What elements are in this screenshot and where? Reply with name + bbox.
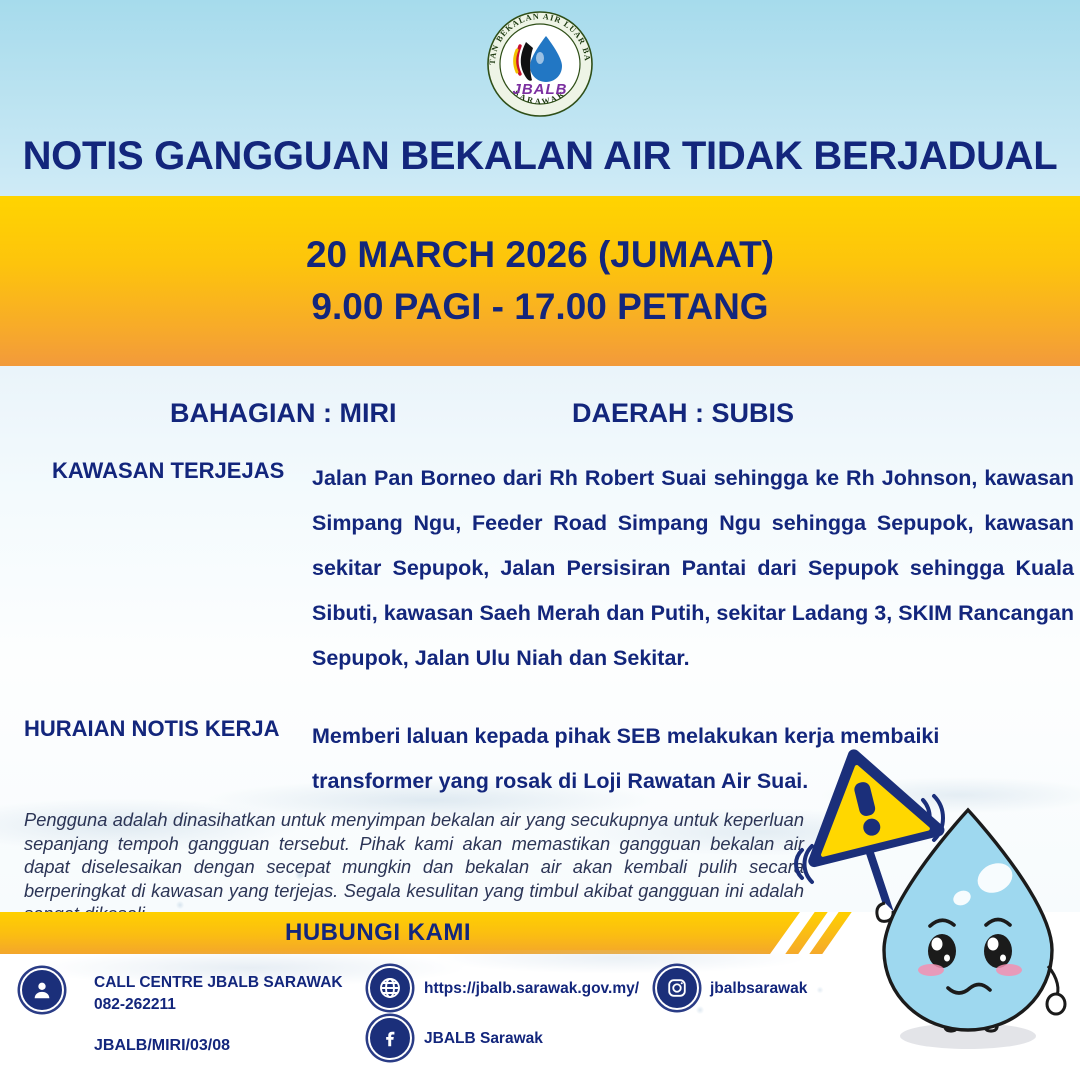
contact-bar-title: HUBUNGI KAMI (285, 919, 471, 947)
contact-bar: HUBUNGI KAMI (0, 912, 800, 954)
instagram-icon[interactable] (655, 966, 699, 1010)
poster-header: JABATAN BEKALAN AIR LUAR BANDAR SARAWAK … (0, 0, 1080, 196)
disruption-time: 9.00 PAGI - 17.00 PETANG (311, 286, 768, 328)
jbalb-logo: JABATAN BEKALAN AIR LUAR BANDAR SARAWAK … (486, 10, 594, 118)
contacts-section: CALL CENTRE JBALB SARAWAK 082-262211 htt… (0, 954, 1080, 1080)
sign-pole (867, 844, 890, 913)
reference-number: JBALB/MIRI/03/08 (94, 1037, 230, 1055)
daerah-value: DAERAH : SUBIS (572, 398, 794, 429)
contact-bar-wrap: HUBUNGI KAMI (0, 912, 1080, 954)
person-icon (20, 968, 64, 1012)
svg-text:JBALB: JBALB (512, 81, 567, 98)
affected-areas-text: Jalan Pan Borneo dari Rh Robert Suai seh… (312, 456, 1074, 681)
region-row: BAHAGIAN : MIRI DAERAH : SUBIS (0, 398, 1080, 442)
bahagian-value: BAHAGIAN : MIRI (170, 398, 396, 429)
instagram-handle[interactable]: jbalbsarawak (710, 978, 807, 1000)
work-notice-label: HURAIAN NOTIS KERJA (24, 716, 314, 742)
globe-icon (368, 966, 412, 1010)
affected-areas-label: KAWASAN TERJEJAS (52, 458, 302, 484)
water-disruption-notice-poster: JABATAN BEKALAN AIR LUAR BANDAR SARAWAK … (0, 0, 1080, 1080)
call-centre-label: CALL CENTRE JBALB SARAWAK (94, 972, 343, 994)
call-centre-number[interactable]: 082-262211 (94, 994, 176, 1016)
page-title: NOTIS GANGGUAN BEKALAN AIR TIDAK BERJADU… (0, 134, 1080, 179)
warning-exclamation-sign (792, 748, 939, 861)
facebook-icon[interactable] (368, 1016, 412, 1060)
website-link[interactable]: https://jbalb.sarawak.gov.my/ (424, 978, 639, 1000)
jbalb-logo-graphic: JABATAN BEKALAN AIR LUAR BANDAR SARAWAK … (486, 10, 594, 118)
disruption-date: 20 MARCH 2026 (JUMAAT) (306, 234, 774, 276)
disclaimer-text: Pengguna adalah dinasihatkan untuk menyi… (24, 808, 804, 926)
date-time-banner: 20 MARCH 2026 (JUMAAT) 9.00 PAGI - 17.00… (0, 196, 1080, 366)
facebook-handle[interactable]: JBALB Sarawak (424, 1028, 543, 1050)
